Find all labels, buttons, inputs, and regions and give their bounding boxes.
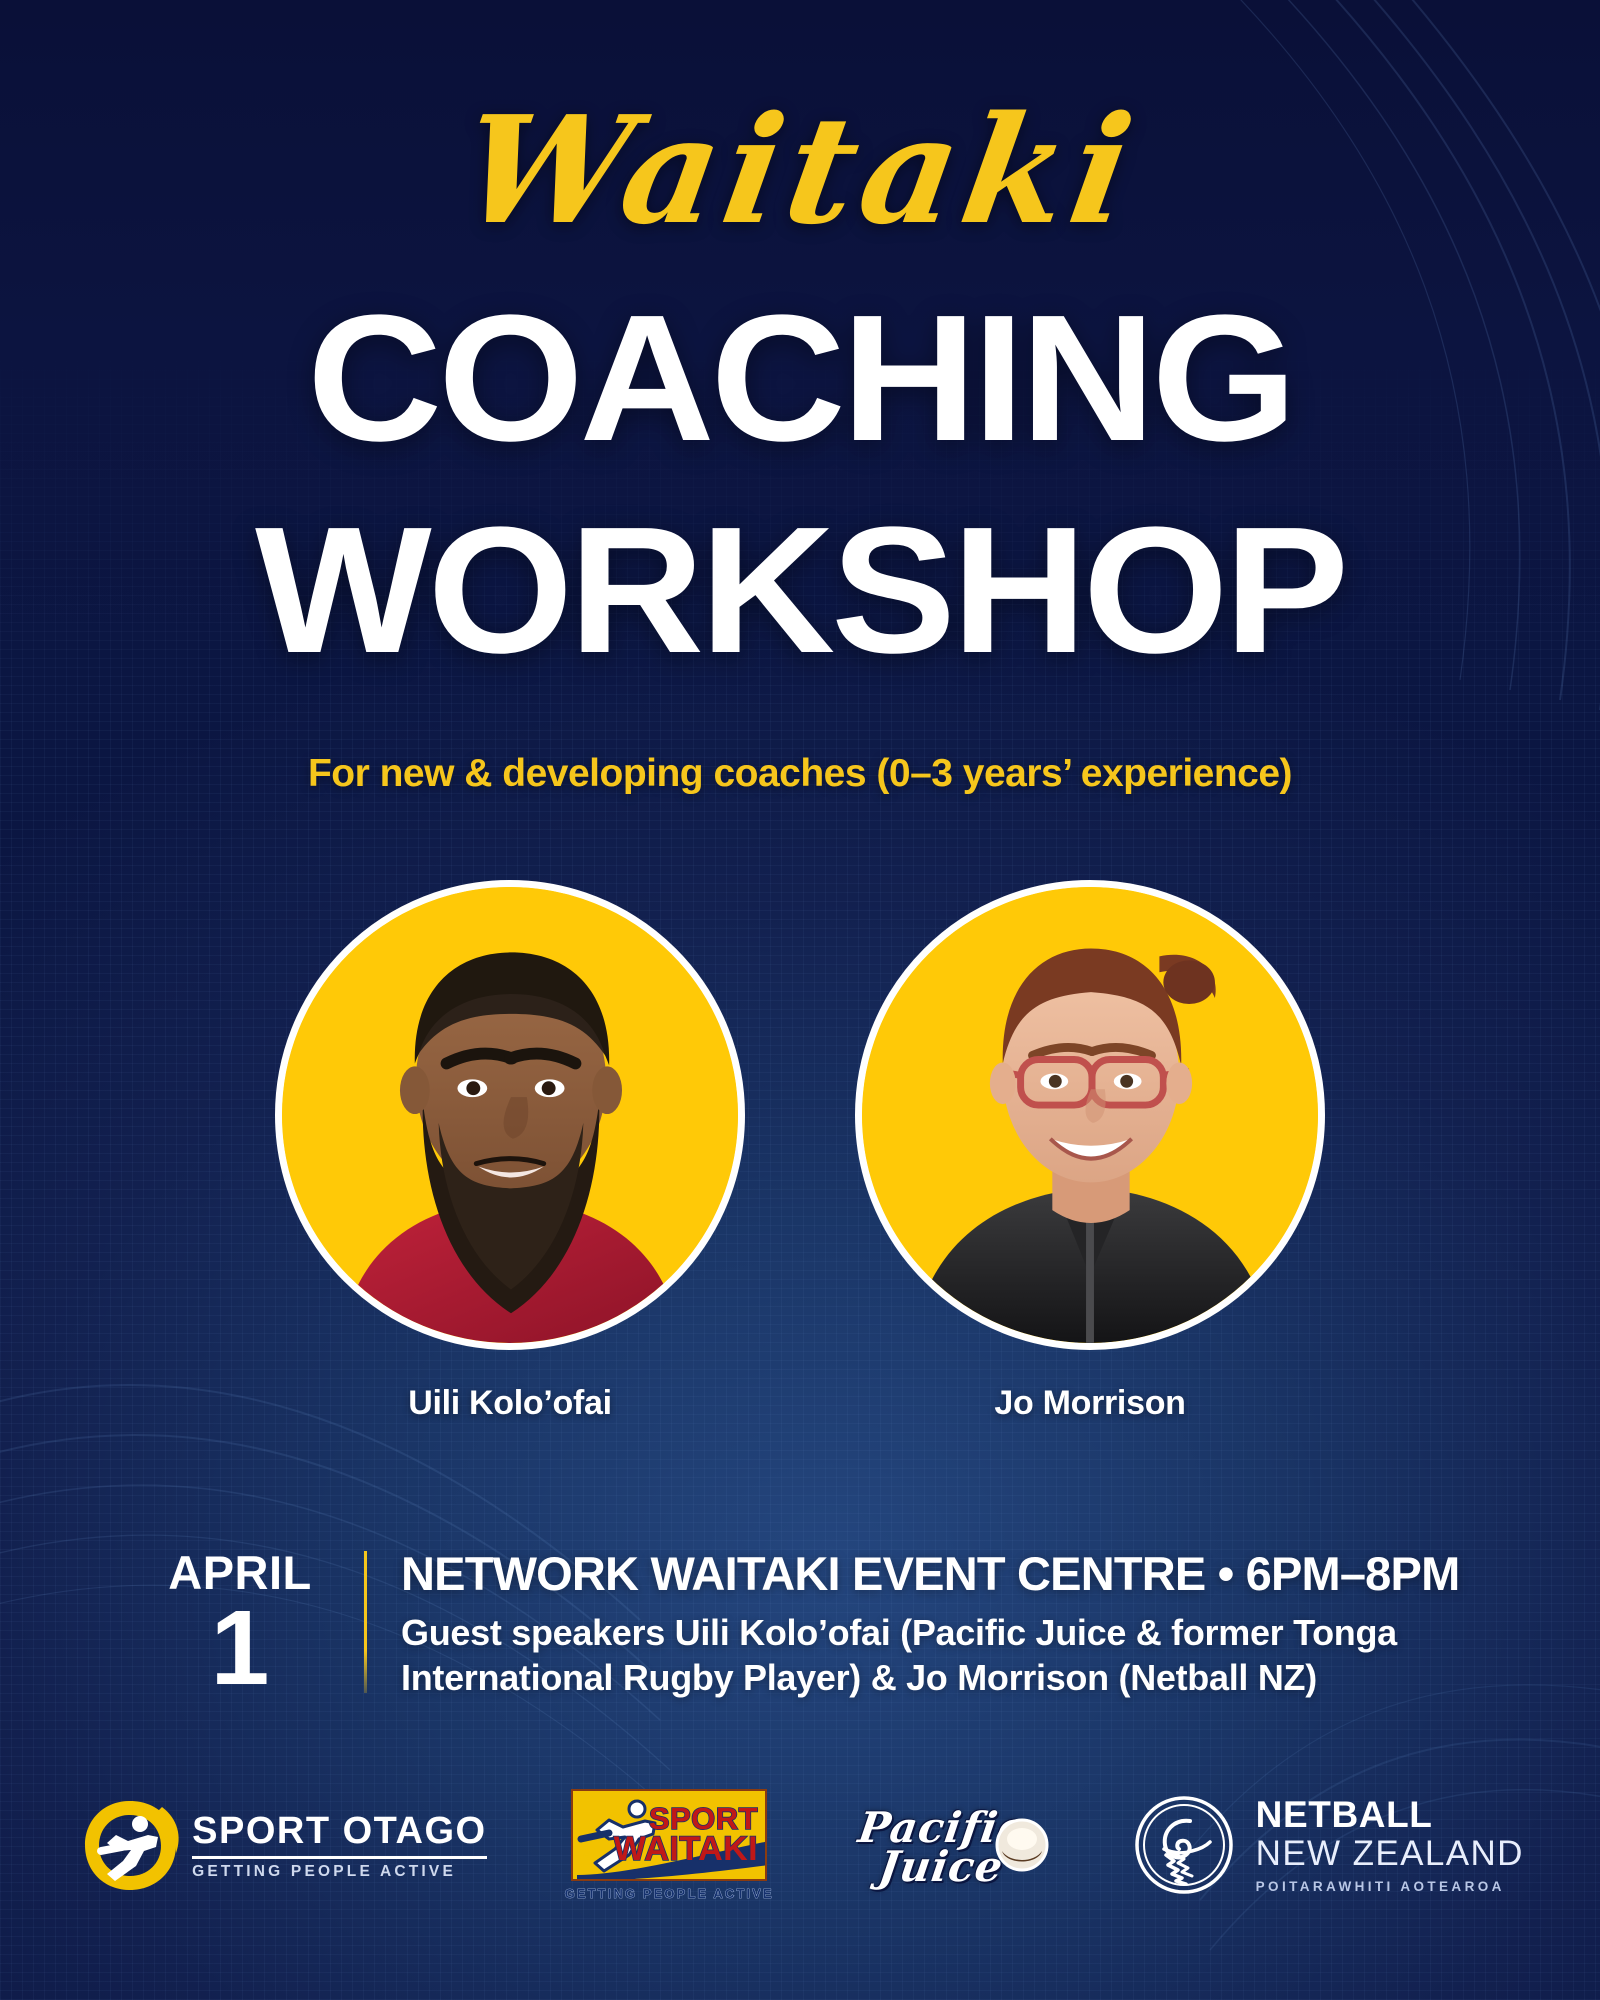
speaker-name-1: Uili Kolo’ofai: [408, 1384, 612, 1423]
headline-line-2-text: WORKSHOP: [255, 512, 1345, 670]
logo-pacific-juice[interactable]: Pacific Juice: [852, 1795, 1052, 1895]
event-description-line-1: Guest speakers Uili Kolo’ofai (Pacific J…: [401, 1610, 1480, 1655]
speaker-card-2: Jo Morrison: [855, 880, 1325, 1423]
event-description-line-2: International Rugby Player) & Jo Morriso…: [401, 1655, 1480, 1700]
netball-text: NETBALL NEW ZEALAND POITARAWHITI AOTEARO…: [1256, 1796, 1524, 1893]
sport-waitaki-tagline: GETTING PEOPLE ACTIVE: [565, 1886, 774, 1901]
details-divider: [364, 1551, 367, 1693]
sport-otago-tagline: GETTING PEOPLE ACTIVE: [192, 1863, 486, 1881]
headline-line-2: WORKSHOP: [0, 512, 1600, 670]
netball-line-3: POITARAWHITI AOTEAROA: [1256, 1879, 1524, 1894]
speaker-card-1: Uili Kolo’ofai: [275, 880, 745, 1423]
event-details: APRIL 1 NETWORK WAITAKI EVENT CENTRE • 6…: [150, 1545, 1480, 1701]
speaker-disc-2: [855, 880, 1325, 1350]
sport-otago-name: SPORT OTAGO: [192, 1810, 486, 1859]
sponsor-logos: SPORT OTAGO GETTING PEOPLE ACTIVE SPORT …: [0, 1765, 1600, 1925]
event-venue-line: NETWORK WAITAKI EVENT CENTRE • 6PM–8PM: [401, 1549, 1480, 1599]
event-text-block: NETWORK WAITAKI EVENT CENTRE • 6PM–8PM G…: [401, 1545, 1480, 1701]
sport-waitaki-words: SPORT WAITAKI: [614, 1805, 766, 1865]
sport-otago-text: SPORT OTAGO GETTING PEOPLE ACTIVE: [192, 1810, 486, 1881]
speaker-name-2: Jo Morrison: [994, 1384, 1185, 1423]
portrait-uili-koloofai: [282, 887, 738, 1343]
event-date-day: 1: [150, 1598, 330, 1699]
speaker-disc-1: [275, 880, 745, 1350]
coconut-icon: [994, 1817, 1050, 1873]
logo-sport-otago[interactable]: SPORT OTAGO GETTING PEOPLE ACTIVE: [76, 1791, 486, 1899]
speakers-row: Uili Kolo’ofai: [0, 880, 1600, 1423]
script-title: Waitaki: [0, 96, 1600, 244]
subtitle: For new & developing coaches (0–3 years’…: [0, 752, 1600, 796]
sport-waitaki-box: SPORT WAITAKI: [571, 1789, 767, 1881]
event-date: APRIL 1: [150, 1545, 330, 1699]
running-figure-swoosh-icon: [76, 1791, 184, 1899]
logo-netball-new-zealand[interactable]: NETBALL NEW ZEALAND POITARAWHITI AOTEARO…: [1130, 1791, 1524, 1899]
poster-canvas: Waitaki COACHING WORKSHOP For new & deve…: [0, 0, 1600, 2000]
netball-line-2: NEW ZEALAND: [1256, 1835, 1524, 1872]
logo-sport-waitaki[interactable]: SPORT WAITAKI GETTING PEOPLE ACTIVE: [565, 1789, 774, 1901]
headline-line-1-text: COACHING: [307, 300, 1293, 458]
headline-line-1: COACHING: [0, 300, 1600, 458]
speaker-photo-2: [855, 880, 1325, 1350]
speaker-photo-1: [275, 880, 745, 1350]
koru-circle-icon: [1130, 1791, 1238, 1899]
portrait-jo-morrison: [862, 887, 1318, 1343]
sport-waitaki-word2: WAITAKI: [614, 1834, 759, 1865]
event-description: Guest speakers Uili Kolo’ofai (Pacific J…: [401, 1610, 1480, 1701]
netball-line-1: NETBALL: [1256, 1796, 1524, 1833]
